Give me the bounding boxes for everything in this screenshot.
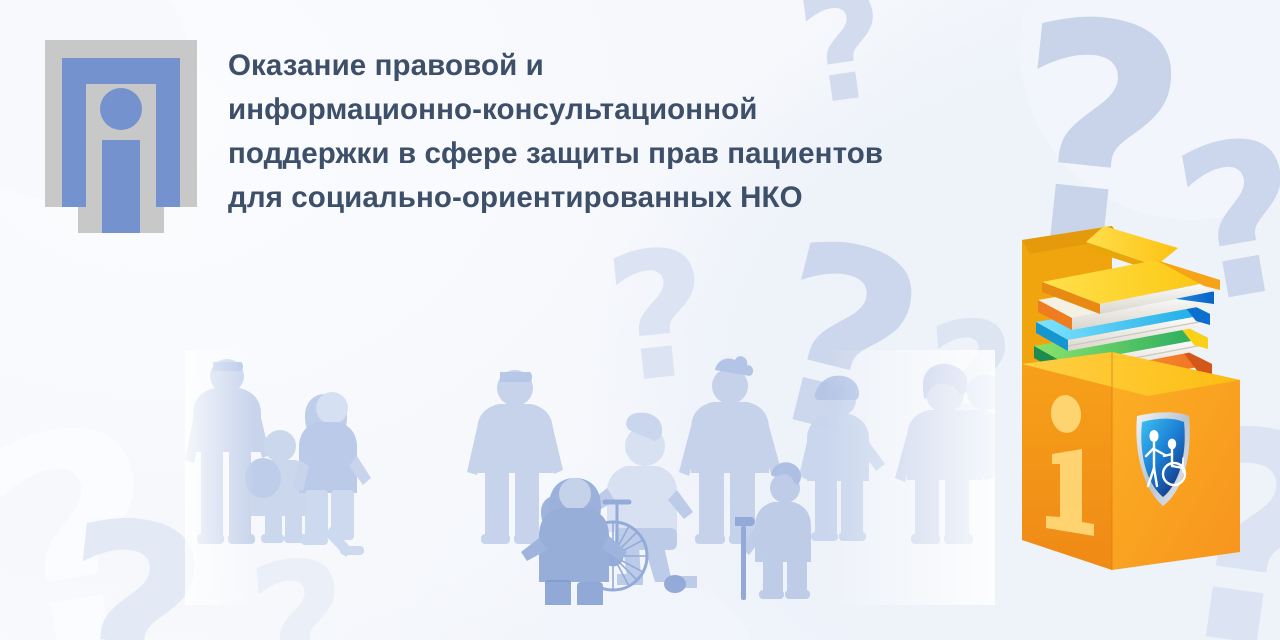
books-on-info-box-illustration: [1008, 222, 1248, 590]
logo-frame-notch-right: [164, 207, 197, 233]
title-line-3: поддержки в сфере защиты прав пациентов: [228, 132, 1008, 176]
logo-figure-body: [102, 140, 140, 233]
banner-title: Оказание правовой и информационно-консул…: [228, 44, 1008, 220]
logo-frame-notch-left: [45, 207, 78, 233]
title-line-2: информационно-консультационной: [228, 88, 1008, 132]
logo-arch-right-leg: [156, 58, 180, 207]
organization-logo: [45, 40, 197, 233]
banner: ?????????? Оказание правовой и информаци…: [0, 0, 1280, 640]
title-line-4: для социально-ориентированных НКО: [228, 176, 1008, 220]
logo-figure-head: [100, 88, 142, 130]
diverse-people-crowd-silhouette: [185, 350, 995, 605]
logo-arch-left-leg: [62, 58, 86, 207]
title-line-1: Оказание правовой и: [228, 44, 1008, 88]
